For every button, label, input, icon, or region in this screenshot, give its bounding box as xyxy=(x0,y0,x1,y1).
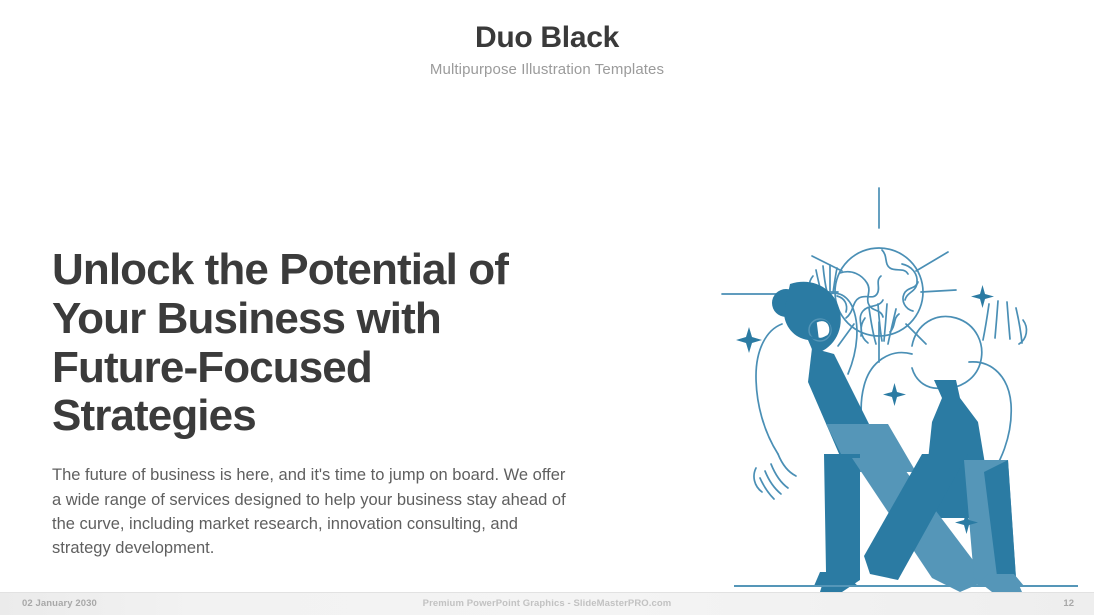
footer: 02 January 2030 Premium PowerPoint Graph… xyxy=(0,592,1094,615)
illustration xyxy=(716,172,1086,592)
page-title: Unlock the Potential of Your Business wi… xyxy=(52,246,582,441)
right-person-head xyxy=(912,316,982,388)
figure-solid-shapes xyxy=(772,282,1024,592)
deck-title: Duo Black xyxy=(0,22,1094,54)
slide: Duo Black Multipurpose Illustration Temp… xyxy=(0,0,1094,615)
body-paragraph: The future of business is here, and it's… xyxy=(52,463,567,560)
left-person-arm-down xyxy=(754,324,796,499)
deck-header: Duo Black Multipurpose Illustration Temp… xyxy=(0,0,1094,78)
footer-page-number: 12 xyxy=(1063,598,1074,609)
content-column: Unlock the Potential of Your Business wi… xyxy=(52,246,582,560)
footer-credit: Premium PowerPoint Graphics - SlideMaste… xyxy=(0,598,1094,609)
left-person-leg-back xyxy=(820,454,860,592)
deck-subtitle: Multipurpose Illustration Templates xyxy=(0,61,1094,78)
